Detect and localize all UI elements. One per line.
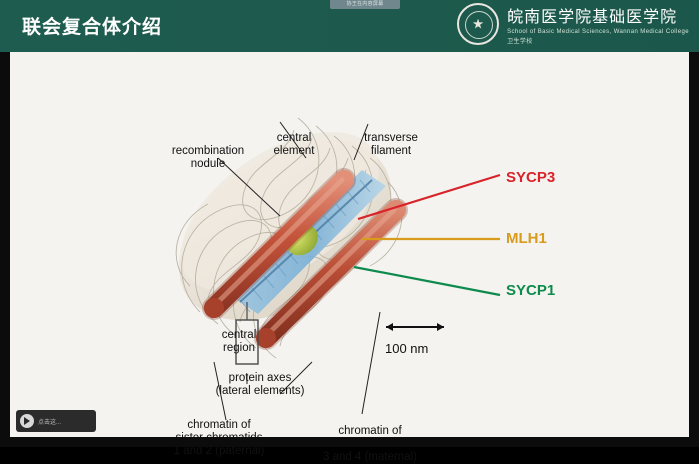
university-name-en: School of Basic Medical Sciences, Wannan… xyxy=(507,29,689,35)
university-name-cn: 皖南医学院基础医学院 xyxy=(507,3,689,27)
university-name-sub: 卫生学校 xyxy=(507,36,689,45)
university-logo: 皖南医学院基础医学院 School of Basic Medical Scien… xyxy=(457,3,689,45)
callout-sycp3: SYCP3 xyxy=(506,169,555,186)
play-icon[interactable] xyxy=(20,414,34,428)
floating-toolbar[interactable]: 点击这... xyxy=(16,410,96,432)
scale-bar-label: 100 nm xyxy=(385,341,428,356)
right-border xyxy=(689,52,699,447)
university-logo-text: 皖南医学院基础医学院 School of Basic Medical Scien… xyxy=(507,3,689,45)
label-central-element: centralelement xyxy=(259,132,329,158)
label-recombination-nodule: recombinationnodule xyxy=(158,145,258,171)
label-protein-axes: protein axes(lateral elements) xyxy=(200,372,320,398)
floating-toolbar-label: 点击这... xyxy=(38,417,61,426)
callout-leader-lines xyxy=(340,147,510,327)
screen-share-indicator[interactable]: 协王在内容屏幕 xyxy=(330,0,400,9)
left-border xyxy=(0,52,10,447)
callout-mlh1: MLH1 xyxy=(506,230,547,247)
page-title: 联会复合体介绍 xyxy=(22,12,162,39)
bottom-border xyxy=(0,437,699,447)
university-seal-icon xyxy=(457,3,499,45)
slide-screenshot: 联会复合体介绍 皖南医学院基础医学院 School of Basic Medic… xyxy=(0,0,699,447)
slide-body: centralelement transversefilament recomb… xyxy=(10,52,689,437)
label-central-region: centralregion xyxy=(205,329,273,355)
callout-sycp1: SYCP1 xyxy=(506,282,555,299)
